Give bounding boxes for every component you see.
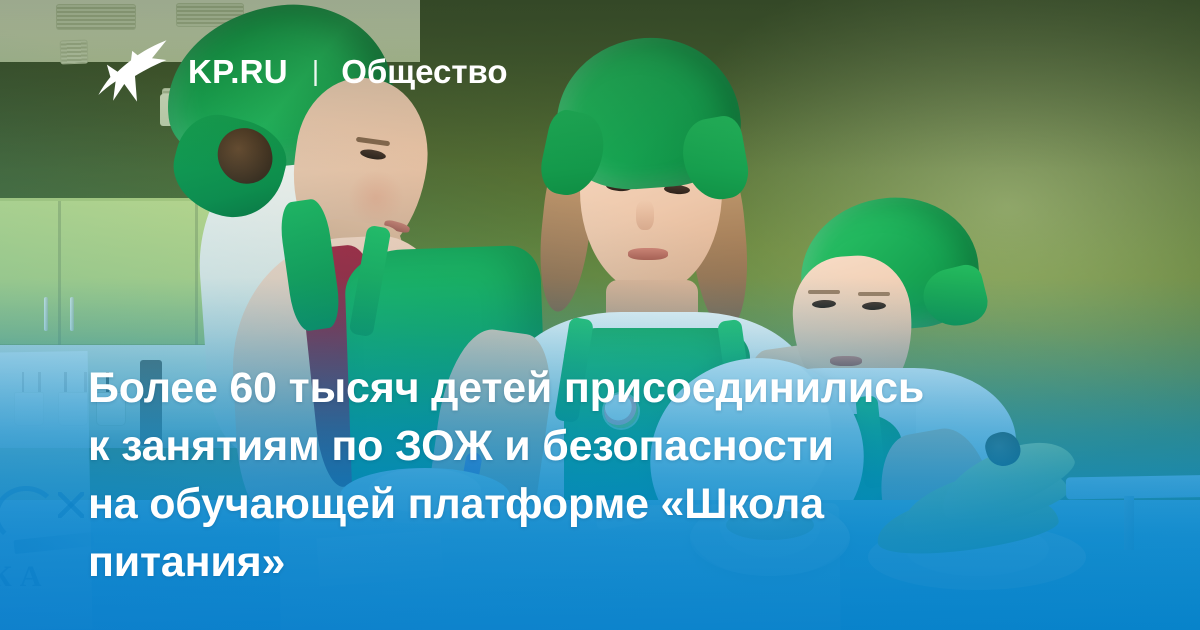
headline-line-2: к занятиям по ЗОЖ и безопасности xyxy=(88,417,1098,475)
section-label[interactable]: Общество xyxy=(341,55,507,88)
swallow-bird-logo-icon[interactable] xyxy=(96,38,168,104)
headline-line-4: питания» xyxy=(88,533,1098,591)
headline: Более 60 тысяч детей присоединились к за… xyxy=(88,359,1098,591)
headline-line-3: на обучающей платформе «Школа xyxy=(88,475,1098,533)
brand-separator: | xyxy=(312,57,319,85)
share-card: КА KP.RU | Общество Более 60 тысяч детей… xyxy=(0,0,1200,630)
headline-line-1: Более 60 тысяч детей присоединились xyxy=(88,359,1098,417)
brand-bar[interactable]: KP.RU | Общество xyxy=(96,36,508,106)
brand-name[interactable]: KP.RU xyxy=(188,55,288,88)
